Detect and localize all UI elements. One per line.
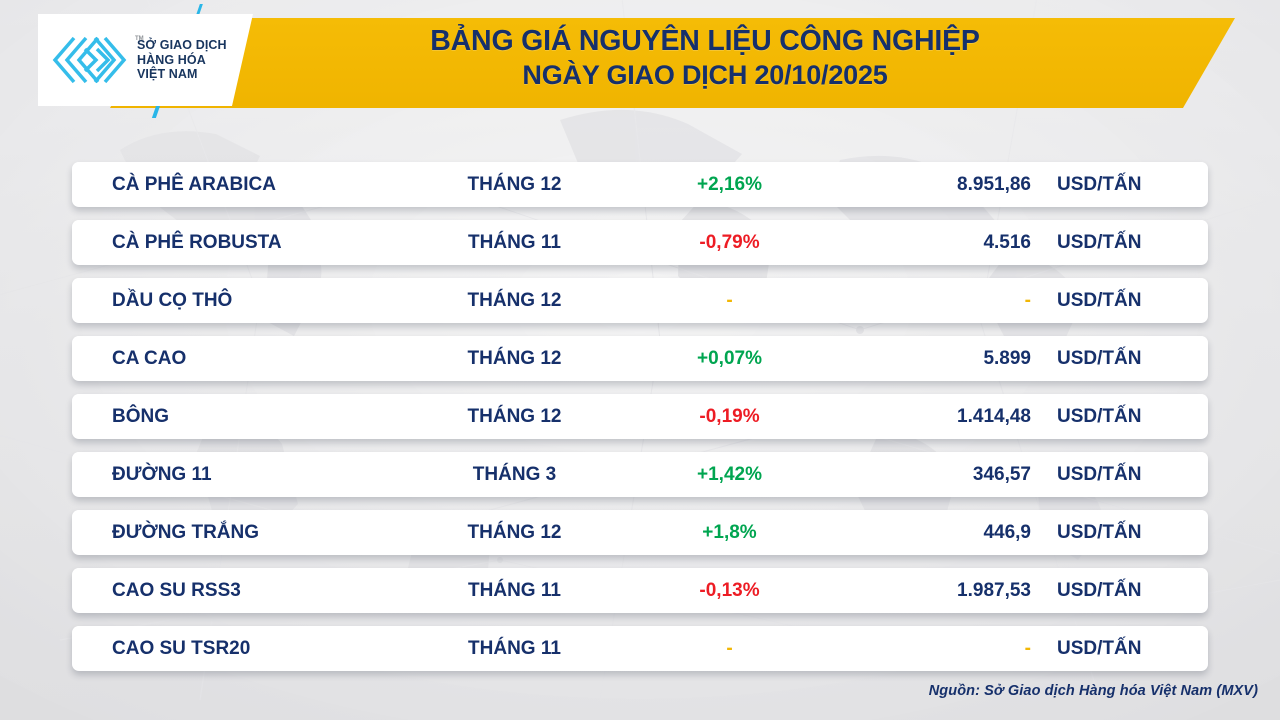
brand-logo-text: TM SỞ GIAO DỊCH HÀNG HÓA VIỆT NAM [137,38,227,82]
price-unit: USD/TẤN [1057,464,1208,486]
commodity-name: ĐƯỜNG 11 [72,464,402,486]
price-unit: USD/TẤN [1057,174,1208,196]
trademark-symbol: TM [135,32,144,47]
table-row[interactable]: DẦU CỌ THÔTHÁNG 12--USD/TẤN [72,278,1208,323]
price-value: - [832,638,1057,660]
contract-month: THÁNG 12 [402,406,627,428]
price-value: - [832,290,1057,312]
contract-month: THÁNG 12 [402,290,627,312]
source-note: Nguồn: Sở Giao dịch Hàng hóa Việt Nam (M… [929,683,1258,699]
contract-month: THÁNG 11 [402,580,627,602]
price-value: 346,57 [832,464,1057,486]
page-header: TM SỞ GIAO DỊCH HÀNG HÓA VIỆT NAM BẢNG G… [0,0,1280,118]
price-value: 4.516 [832,232,1057,254]
price-change-percent: -0,19% [627,406,832,428]
contract-month: THÁNG 11 [402,638,627,660]
brand-line-1: SỞ GIAO DỊCH [137,38,227,53]
title-line-1: BẢNG GIÁ NGUYÊN LIỆU CÔNG NGHIỆP [240,24,1170,58]
commodity-name: BÔNG [72,406,402,428]
table-row[interactable]: BÔNGTHÁNG 12-0,19%1.414,48USD/TẤN [72,394,1208,439]
price-change-percent: -0,13% [627,580,832,602]
price-change-percent: - [627,290,832,312]
brand-logo-card: TM SỞ GIAO DỊCH HÀNG HÓA VIỆT NAM [38,14,253,106]
price-value: 1.414,48 [832,406,1057,428]
price-unit: USD/TẤN [1057,290,1208,312]
contract-month: THÁNG 12 [402,174,627,196]
table-row[interactable]: ĐƯỜNG TRẮNGTHÁNG 12+1,8%446,9USD/TẤN [72,510,1208,555]
commodity-name: CA CAO [72,348,402,370]
price-change-percent: +0,07% [627,348,832,370]
price-change-percent: +1,42% [627,464,832,486]
price-change-percent: +2,16% [627,174,832,196]
title-line-2: NGÀY GIAO DỊCH 20/10/2025 [240,58,1170,92]
price-unit: USD/TẤN [1057,580,1208,602]
brand-line-3: VIỆT NAM [137,67,227,82]
commodity-name: CAO SU RSS3 [72,580,402,602]
commodity-name: CÀ PHÊ ARABICA [72,174,402,196]
price-value: 1.987,53 [832,580,1057,602]
price-value: 8.951,86 [832,174,1057,196]
price-change-percent: +1,8% [627,522,832,544]
table-row[interactable]: CAO SU RSS3THÁNG 11-0,13%1.987,53USD/TẤN [72,568,1208,613]
table-row[interactable]: CA CAOTHÁNG 12+0,07%5.899USD/TẤN [72,336,1208,381]
commodity-price-table: CÀ PHÊ ARABICATHÁNG 12+2,16%8.951,86USD/… [72,162,1208,671]
commodity-name: CAO SU TSR20 [72,638,402,660]
contract-month: THÁNG 3 [402,464,627,486]
commodity-name: ĐƯỜNG TRẮNG [72,522,402,544]
price-unit: USD/TẤN [1057,522,1208,544]
page-footer: Nguồn: Sở Giao dịch Hàng hóa Việt Nam (M… [0,662,1280,720]
commodity-name: CÀ PHÊ ROBUSTA [72,232,402,254]
contract-month: THÁNG 12 [402,348,627,370]
price-value: 446,9 [832,522,1057,544]
contract-month: THÁNG 11 [402,232,627,254]
price-unit: USD/TẤN [1057,638,1208,660]
price-unit: USD/TẤN [1057,232,1208,254]
page-title: BẢNG GIÁ NGUYÊN LIỆU CÔNG NGHIỆP NGÀY GI… [240,24,1170,92]
commodity-name: DẦU CỌ THÔ [72,290,402,312]
table-row[interactable]: CÀ PHÊ ARABICATHÁNG 12+2,16%8.951,86USD/… [72,162,1208,207]
price-value: 5.899 [832,348,1057,370]
brand-line-2: HÀNG HÓA [137,53,227,68]
price-board-page: TM SỞ GIAO DỊCH HÀNG HÓA VIỆT NAM BẢNG G… [0,0,1280,720]
table-row[interactable]: ĐƯỜNG 11THÁNG 3+1,42%346,57USD/TẤN [72,452,1208,497]
contract-month: THÁNG 12 [402,522,627,544]
table-row[interactable]: CÀ PHÊ ROBUSTATHÁNG 11-0,79%4.516USD/TẤN [72,220,1208,265]
mxv-chevron-logo-icon [52,35,130,85]
price-unit: USD/TẤN [1057,348,1208,370]
price-unit: USD/TẤN [1057,406,1208,428]
price-change-percent: - [627,638,832,660]
price-change-percent: -0,79% [627,232,832,254]
